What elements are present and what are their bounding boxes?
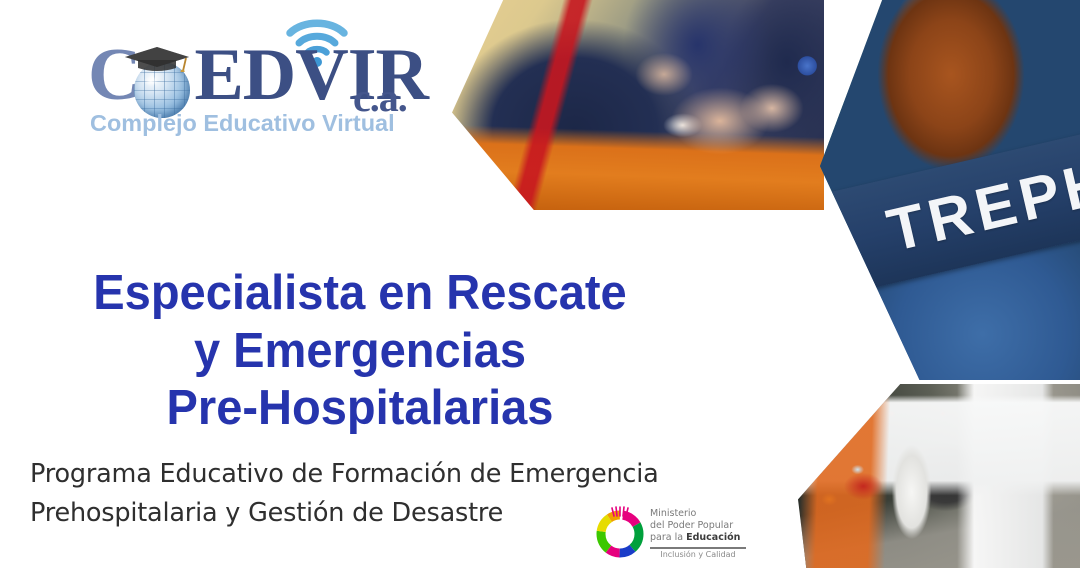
ministry-divider bbox=[650, 547, 746, 549]
ministry-name-line-3-prefix: para la bbox=[650, 532, 686, 543]
photo-ambulance-image bbox=[798, 384, 1080, 568]
course-title: Especialista en Rescate y Emergencias Pr… bbox=[14, 265, 705, 438]
ministry-name: Ministerio del Poder Popular para la Edu… bbox=[650, 508, 740, 544]
ministry-name-line-2: del Poder Popular bbox=[650, 520, 733, 531]
course-subtitle-line-1: Programa Educativo de Formación de Emerg… bbox=[30, 455, 750, 494]
ministry-name-line-3-bold: Educación bbox=[686, 532, 740, 543]
photo-ambulance bbox=[798, 384, 1080, 568]
course-title-line-3: Pre-Hospitalarias bbox=[14, 380, 705, 438]
course-title-line-2: y Emergencias bbox=[14, 323, 705, 381]
ministry-logo: Ministerio del Poder Popular para la Edu… bbox=[588, 504, 763, 564]
photo-rescue-team bbox=[452, 0, 824, 210]
photo-rescue-team-image bbox=[452, 0, 824, 210]
poster-canvas: TREPH CEDVIR c.a. Complejo Educativo Vir… bbox=[0, 0, 1080, 568]
course-title-line-1: Especialista en Rescate bbox=[14, 265, 705, 323]
graduation-cap-icon bbox=[124, 46, 190, 72]
ministry-ring-icon bbox=[592, 506, 648, 562]
ministry-name-line-1: Ministerio bbox=[650, 508, 696, 519]
ministry-slogan: Inclusión y Calidad bbox=[650, 550, 746, 559]
brand-logo: CEDVIR c.a. Complejo Educativo Virtual bbox=[88, 22, 458, 140]
logo-tagline: Complejo Educativo Virtual bbox=[90, 110, 395, 137]
photo-treph-officer: TREPH bbox=[820, 0, 1080, 380]
